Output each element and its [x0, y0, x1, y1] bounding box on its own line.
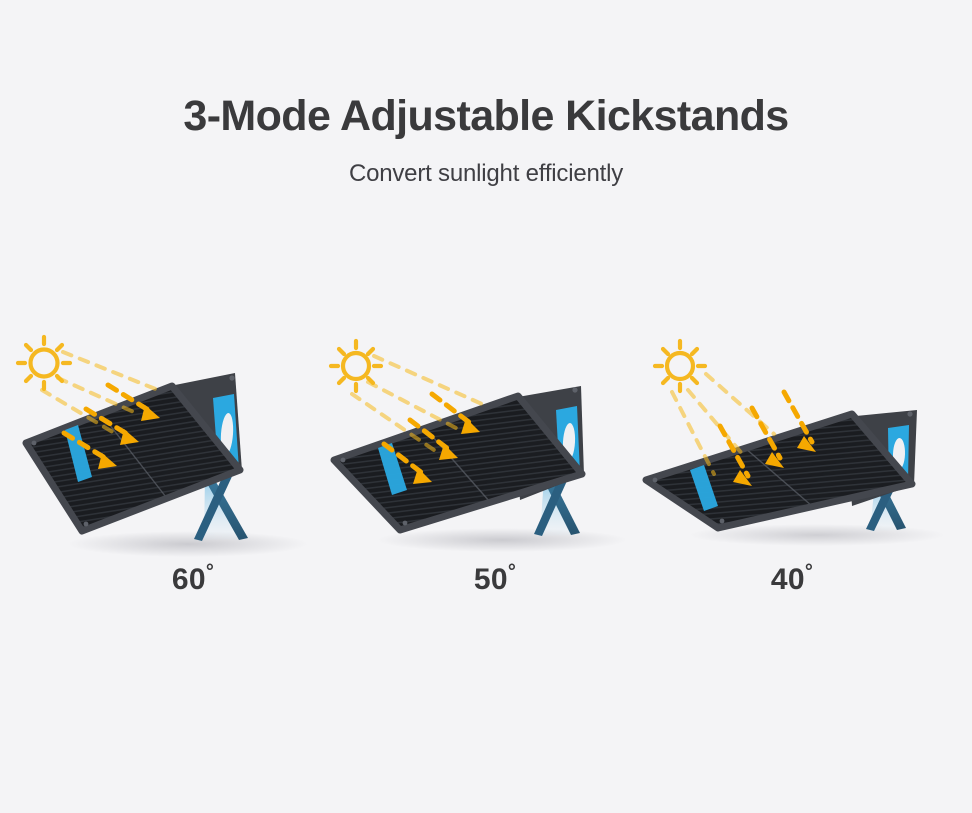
grommet-top: [572, 387, 577, 392]
ground-shadow: [377, 528, 627, 552]
solar-panel-illustrations: [0, 330, 972, 580]
grommet-bottom: [403, 521, 408, 526]
promo-page: 3-Mode Adjustable Kickstands Convert sun…: [0, 0, 972, 813]
degree-symbol: °: [508, 561, 516, 583]
angle-label-40-value: 40: [771, 563, 805, 596]
angle-label-50: 50°: [415, 563, 575, 597]
panel-illustration-50: [322, 330, 652, 580]
angle-label-60: 60°: [113, 563, 273, 597]
grommet-left: [341, 458, 346, 463]
ground-shadow: [68, 531, 308, 557]
grommet-top: [229, 375, 234, 380]
grommet-bottom: [720, 519, 725, 524]
angle-label-40: 40°: [712, 563, 872, 597]
page-subtitle: Convert sunlight efficiently: [0, 160, 972, 188]
page-title: 3-Mode Adjustable Kickstands: [0, 92, 972, 140]
grommet-left: [653, 478, 658, 483]
degree-symbol: °: [805, 561, 813, 583]
panel-illustration-60: [8, 330, 338, 580]
grommet-left: [32, 441, 37, 446]
angle-labels: 60° 50° 40°: [0, 563, 972, 608]
panel-illustration-40: [632, 330, 962, 580]
degree-symbol: °: [206, 561, 214, 583]
grommet-bottom: [84, 522, 89, 527]
sun-icon: [655, 341, 705, 391]
grommet-top: [907, 411, 912, 416]
angle-label-60-value: 60: [172, 563, 206, 596]
angle-label-50-value: 50: [474, 563, 508, 596]
